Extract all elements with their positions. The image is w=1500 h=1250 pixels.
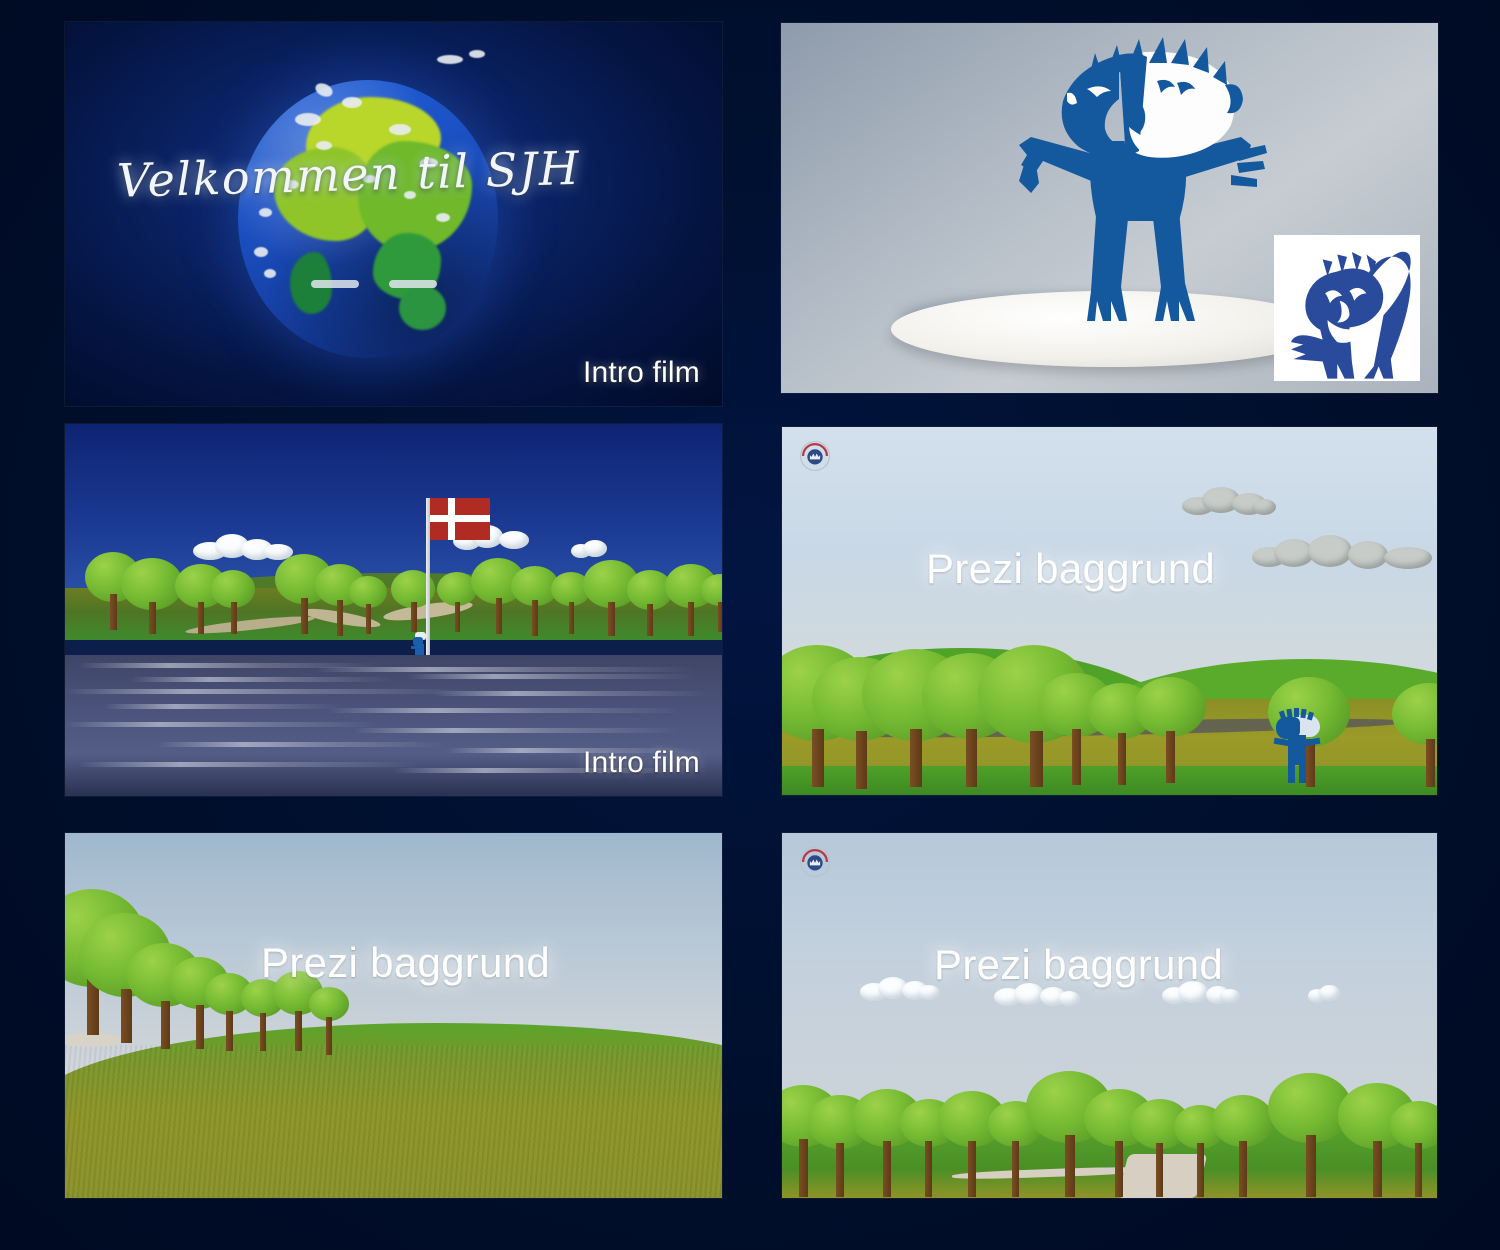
cloud (1308, 985, 1340, 1003)
slide-title-prezi: Prezi baggrund (261, 939, 550, 987)
mini-mascot (1276, 715, 1322, 783)
slide-thumbnail-prezi-forest[interactable]: Prezi baggrund (782, 833, 1437, 1198)
crown-crest-icon (798, 845, 832, 879)
slide-thumbnail-prezi-field[interactable]: Prezi baggrund (65, 833, 722, 1198)
globe-graphic (238, 80, 498, 358)
slide-thumbnail-mascot[interactable] (781, 23, 1438, 393)
sjh-logo-box (1274, 235, 1420, 381)
slide-thumbnail-flag-landscape[interactable]: Intro film (65, 424, 722, 796)
corner-label-intro-film: Intro film (583, 746, 700, 780)
cloud (571, 540, 607, 558)
corner-label-intro-film: Intro film (583, 356, 700, 390)
slide-thumbnail-prezi-mascot[interactable]: Prezi baggrund (782, 427, 1437, 795)
field-texture (65, 1045, 722, 1198)
slide-title-velkommen: Velkommen til SJH (116, 140, 677, 206)
crown-crest-icon (798, 439, 832, 473)
cloud (193, 532, 293, 560)
slide-thumbnail-globe-intro[interactable]: Velkommen til SJH Intro film (65, 22, 722, 406)
slide-title-prezi: Prezi baggrund (934, 941, 1223, 989)
denmark-flag-icon (430, 498, 490, 540)
cloud (1182, 485, 1274, 517)
mascot-character (979, 33, 1289, 333)
slide-title-prezi: Prezi baggrund (926, 545, 1215, 593)
slide-grid: Velkommen til SJH Intro film (0, 0, 1500, 1250)
cloud (1252, 535, 1432, 571)
cloud (860, 975, 940, 1001)
